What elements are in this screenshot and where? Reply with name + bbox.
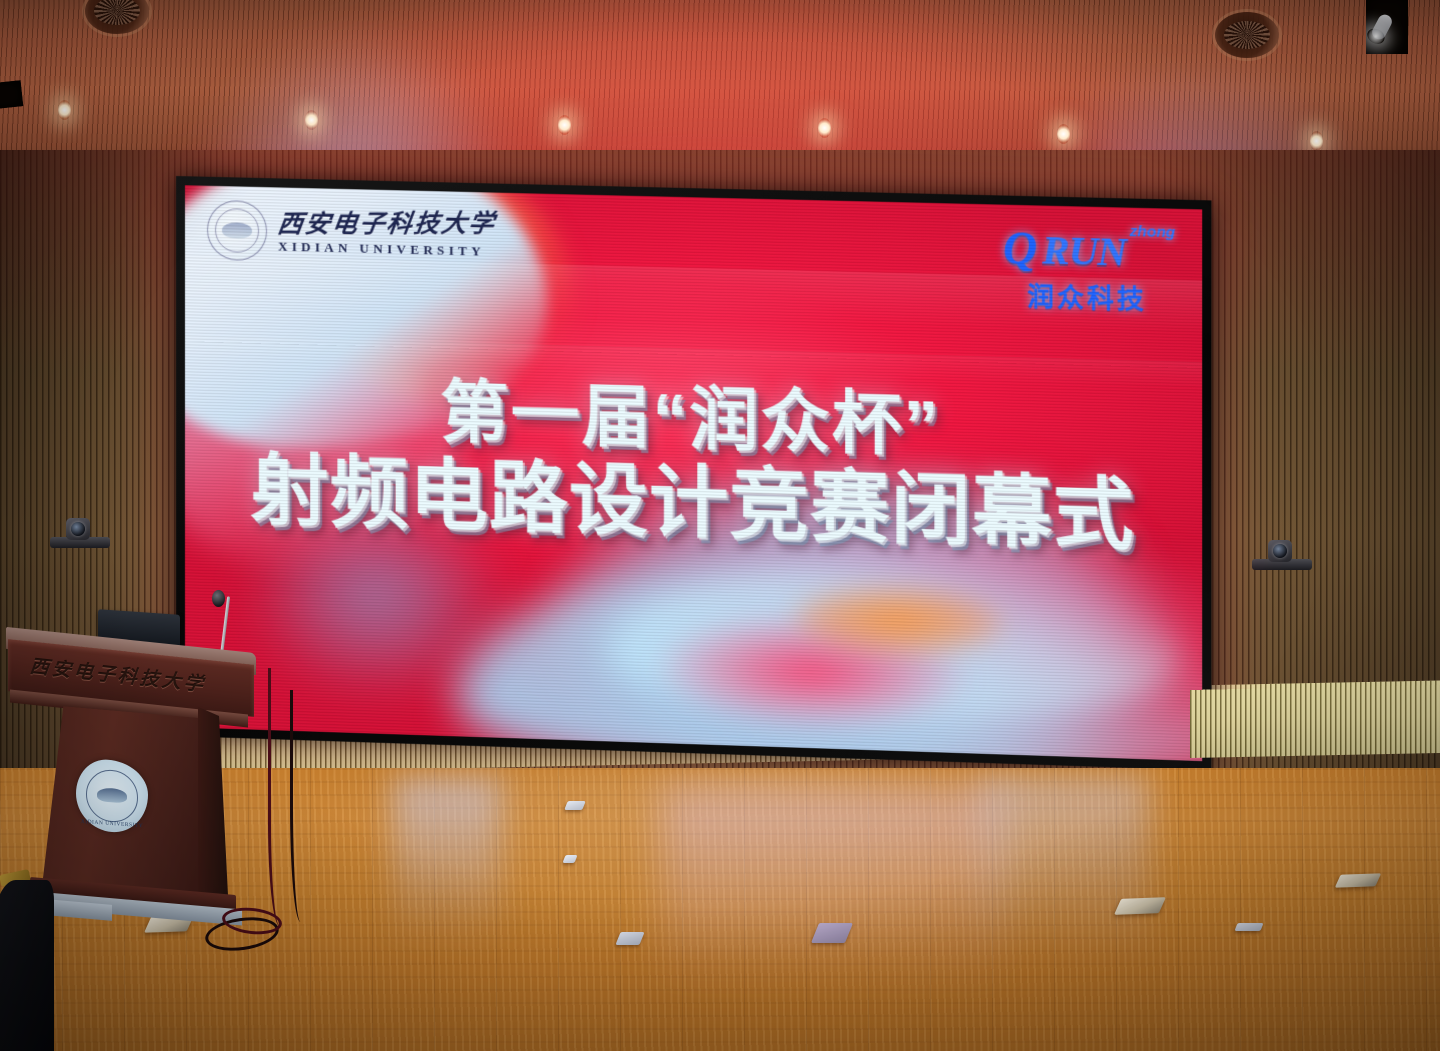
university-logo: 西安电子科技大学 XIDIAN UNIVERSITY [207,200,496,267]
screen-surface: 西安电子科技大学 XIDIAN UNIVERSITY Q RUN zhong 润… [185,185,1202,761]
floor-reflection [660,788,1000,998]
downlight-icon [1310,131,1323,151]
lower-wall-slat-band-right [1190,685,1440,758]
podium-university-seal: XIDIAN UNIVERSITY [76,757,148,834]
university-name-cn: 西安电子科技大学 [276,211,498,237]
ptz-camera-right [1252,540,1312,570]
floor-marker [564,801,586,810]
led-display-screen[interactable]: 西安电子科技大学 XIDIAN UNIVERSITY Q RUN zhong 润… [176,176,1211,771]
camera-lens-icon [1273,544,1287,558]
downlight-icon [558,115,571,135]
foreground-dark-object [0,880,54,1051]
downlight-icon [1057,124,1070,144]
microphone-icon[interactable] [212,590,225,607]
downlight-icon [305,110,318,130]
sponsor-mark-superscript: zhong [1130,223,1176,241]
auditorium-scene: 西安电子科技大学 XIDIAN UNIVERSITY Q RUN zhong 润… [0,0,1440,1051]
podium-body-side [198,707,228,896]
downlight-icon [58,100,71,120]
spotlight-icon [1370,12,1395,42]
university-name-en: XIDIAN UNIVERSITY [278,238,495,259]
floor-marker [1234,923,1263,931]
sponsor-name-cn: 润众科技 [997,275,1177,317]
sponsor-mark-letter: Q [1003,225,1037,273]
ceiling-light-slot [0,80,23,110]
floor-reflection [980,776,1150,976]
downlight-icon [818,118,831,138]
ceiling-vent-icon [1215,12,1279,58]
lower-slat-texture [1190,685,1440,758]
ceremony-title: 第一届“润众杯” 射频电路设计竞赛闭幕式 [185,369,1202,560]
xidian-university-emblem-icon [207,200,267,262]
camera-lens-icon [71,522,85,536]
power-cable [290,690,311,922]
sponsor-mark: Q RUN zhong [997,223,1177,282]
ceiling-light-slot [1366,0,1408,54]
floor-socket-plate [1335,873,1382,887]
floor-socket-plate [1114,897,1166,915]
ptz-camera-left [50,518,110,548]
sponsor-logo: Q RUN zhong 润众科技 [997,223,1177,318]
floor-reflection [392,778,502,958]
sponsor-mark-word: RUN [1042,230,1126,273]
